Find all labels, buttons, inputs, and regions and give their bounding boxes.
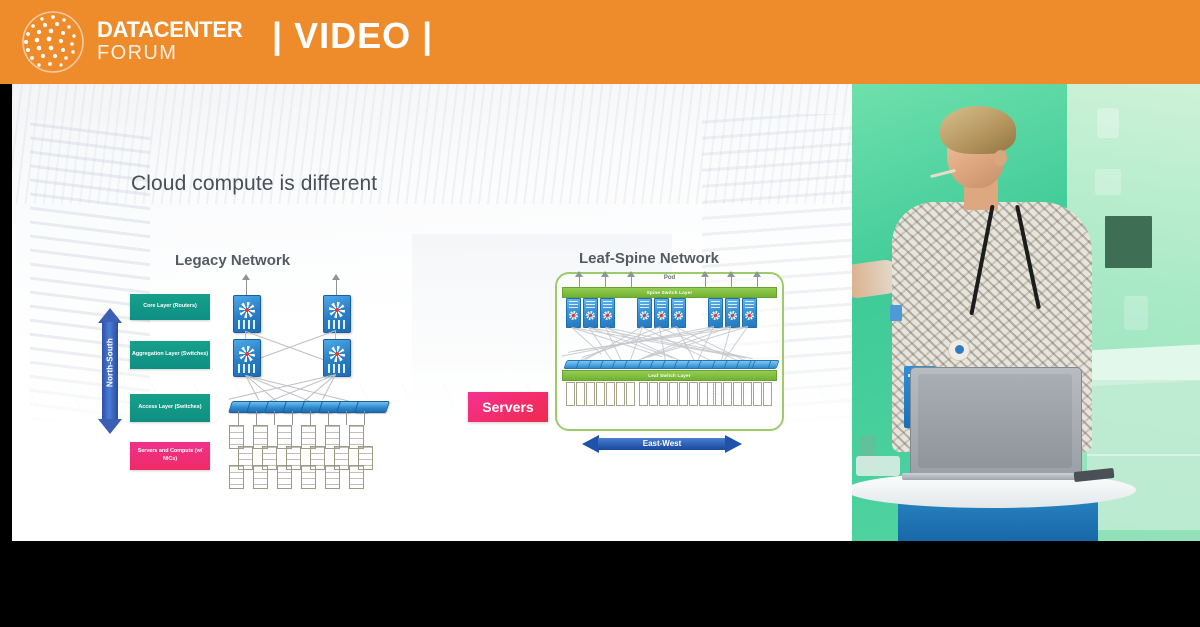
legacy-network-heading: Legacy Network xyxy=(175,252,290,269)
pod-rack xyxy=(659,382,668,406)
legacy-server xyxy=(277,465,292,489)
globe-dots-icon xyxy=(12,5,94,79)
pod-rack xyxy=(763,382,772,406)
pod-rack xyxy=(606,382,615,406)
leaf-switch-layer-bar: Leaf Switch Layer xyxy=(562,370,777,381)
legacy-layer-servers: Servers and Compute (w/ NICs) xyxy=(130,442,210,470)
pod-rack xyxy=(753,382,762,406)
laptop-base xyxy=(902,473,1088,480)
pod-rack xyxy=(707,382,716,406)
core-router xyxy=(233,295,261,333)
pod-rack xyxy=(743,382,752,406)
spine-switch xyxy=(742,298,757,328)
north-south-arrow: North-South xyxy=(98,308,122,434)
spine-switch-layer-bar: Spine Switch Layer xyxy=(562,287,777,298)
presenter-ear xyxy=(994,150,1007,166)
pod-rack xyxy=(669,382,678,406)
wall-dark-panel xyxy=(1105,216,1152,268)
pod-label: Pod xyxy=(664,275,675,281)
access-switch xyxy=(354,401,390,413)
shirt-pin-icon xyxy=(948,339,970,361)
stage-cabinet-edge xyxy=(1087,454,1200,456)
spine-switch xyxy=(600,298,615,328)
leafspine-network-heading: Leaf-Spine Network xyxy=(579,250,719,267)
pod-rack xyxy=(733,382,742,406)
screenshot-root: DATACENTER FORUM | VIDEO | Cloud compute… xyxy=(0,0,1200,627)
legacy-server xyxy=(229,465,244,489)
pod-rack xyxy=(586,382,595,406)
laptop-lid-inner xyxy=(918,374,1072,468)
desk-items xyxy=(856,456,900,476)
spine-switch xyxy=(654,298,669,328)
header-bar: DATACENTER FORUM | VIDEO | xyxy=(0,0,1200,84)
pod-rack xyxy=(566,382,575,406)
leaf-switch xyxy=(751,360,771,369)
pod-rack xyxy=(596,382,605,406)
pod-rack xyxy=(649,382,658,406)
legacy-server xyxy=(325,465,340,489)
legacy-layer-aggregation: Aggregation Layer (Switches) xyxy=(130,341,210,369)
spine-switch xyxy=(566,298,581,328)
east-west-label: East-West xyxy=(582,439,742,448)
pod-container: Pod Spine Switch Layer xyxy=(555,272,784,431)
wall-panel-2 xyxy=(1095,169,1121,195)
servers-callout: Servers xyxy=(468,392,548,422)
sleeve-tag xyxy=(890,305,902,321)
legacy-server xyxy=(301,465,316,489)
spine-switch xyxy=(583,298,598,328)
spine-switch xyxy=(637,298,652,328)
core-router xyxy=(323,295,351,333)
east-west-arrow: East-West xyxy=(582,435,742,453)
legacy-topology-graphic xyxy=(222,279,372,479)
slide-panel: Cloud compute is different Legacy Networ… xyxy=(12,84,852,541)
wall-panel-3 xyxy=(1124,296,1148,330)
video-tag-label: | VIDEO | xyxy=(272,18,433,54)
pod-rack xyxy=(689,382,698,406)
legacy-layer-access: Access Layer (Switches) xyxy=(130,394,210,422)
spine-switch xyxy=(725,298,740,328)
presenter-hair xyxy=(940,106,1016,154)
presenter-video-panel[interactable] xyxy=(852,84,1200,541)
wall-panel-1 xyxy=(1097,108,1119,138)
legacy-server xyxy=(253,465,268,489)
pod-rack xyxy=(616,382,625,406)
brand-wordmark: DATACENTER FORUM xyxy=(97,19,242,63)
pod-rack xyxy=(576,382,585,406)
aggregation-switch xyxy=(323,339,351,377)
brand-line-1: DATACENTER xyxy=(97,19,242,41)
pod-rack xyxy=(723,382,732,406)
pod-rack xyxy=(639,382,648,406)
north-south-label: North-South xyxy=(106,325,115,401)
legacy-server xyxy=(349,465,364,489)
spine-switch xyxy=(708,298,723,328)
pod-rack xyxy=(679,382,688,406)
pod-rack xyxy=(626,382,635,406)
slide-title: Cloud compute is different xyxy=(131,172,377,196)
aggregation-switch xyxy=(233,339,261,377)
legacy-layer-core: Core Layer (Routers) xyxy=(130,294,210,320)
brand-line-2: FORUM xyxy=(97,43,242,63)
spine-switch xyxy=(671,298,686,328)
